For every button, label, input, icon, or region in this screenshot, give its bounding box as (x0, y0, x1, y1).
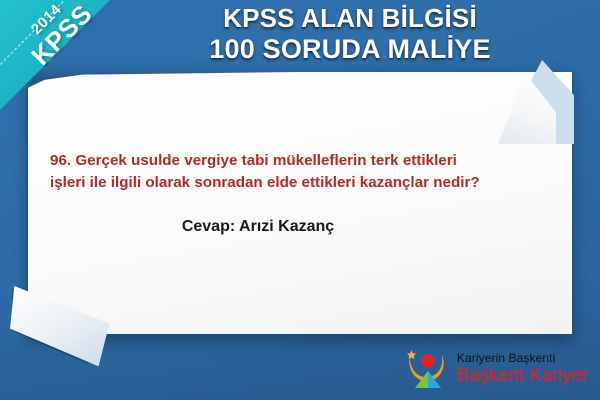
baskent-kariyer-logo-icon (405, 347, 451, 391)
brand-logo-text: Kariyerin Başkenti Başkent Kariyer (457, 352, 588, 386)
corner-ribbon: 2014 KPSS (0, 0, 116, 116)
logo-tagline: Kariyerin Başkenti (457, 352, 588, 365)
slide-root: 96. Gerçek usulde vergiye tabi mükellefl… (0, 0, 600, 400)
question-line-2: işleri ile ilgili olarak sonradan elde e… (50, 172, 558, 194)
question-text: 96. Gerçek usulde vergiye tabi mükellefl… (50, 150, 558, 194)
answer-text: Cevap: Arızi Kazanç (28, 218, 488, 236)
logo-brand-name: Başkent Kariyer (457, 366, 588, 386)
question-line-1: 96. Gerçek usulde vergiye tabi mükellefl… (50, 150, 558, 172)
brand-logo[interactable]: Kariyerin Başkenti Başkent Kariyer (405, 346, 588, 392)
